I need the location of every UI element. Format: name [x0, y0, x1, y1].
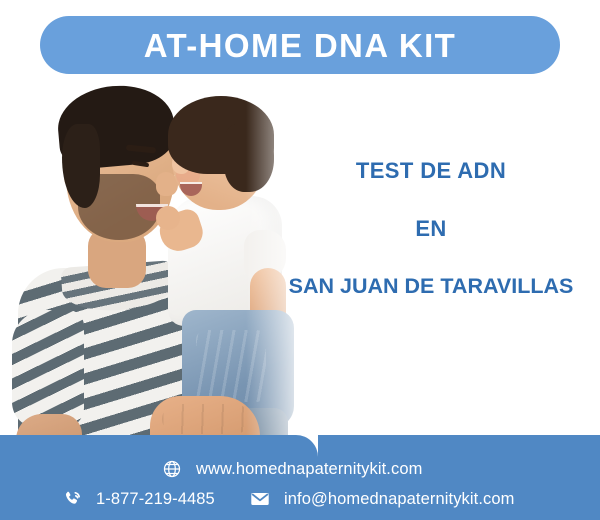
footer-phone-row[interactable]: 1-877-219-4485 — [60, 487, 215, 511]
footer-website-label: www.homednapaternitykit.com — [196, 460, 422, 479]
footer-email-row[interactable]: info@homednapaternitykit.com — [248, 487, 515, 511]
headline-line-2: EN — [262, 218, 600, 240]
man-sleeve — [12, 310, 84, 428]
envelope-icon — [248, 487, 272, 511]
globe-icon — [160, 457, 184, 481]
promo-banner: AT-HOME DNA KIT — [0, 0, 600, 520]
headline-line-1: TEST DE ADN — [262, 160, 600, 182]
header-badge: AT-HOME DNA KIT — [40, 16, 560, 74]
header-badge-label: AT-HOME DNA KIT — [144, 29, 456, 62]
headline-block: TEST DE ADN EN SAN JUAN DE TARAVILLAS — [262, 160, 600, 298]
footer-website-row[interactable]: www.homednapaternitykit.com — [160, 457, 422, 481]
headline-line-3-location: SAN JUAN DE TARAVILLAS — [262, 276, 600, 298]
man-fingers — [162, 404, 250, 434]
footer-phone-label: 1-877-219-4485 — [96, 490, 215, 509]
child-hand — [156, 206, 180, 230]
footer-email-label: info@homednapaternitykit.com — [284, 490, 515, 509]
phone-icon — [60, 487, 84, 511]
